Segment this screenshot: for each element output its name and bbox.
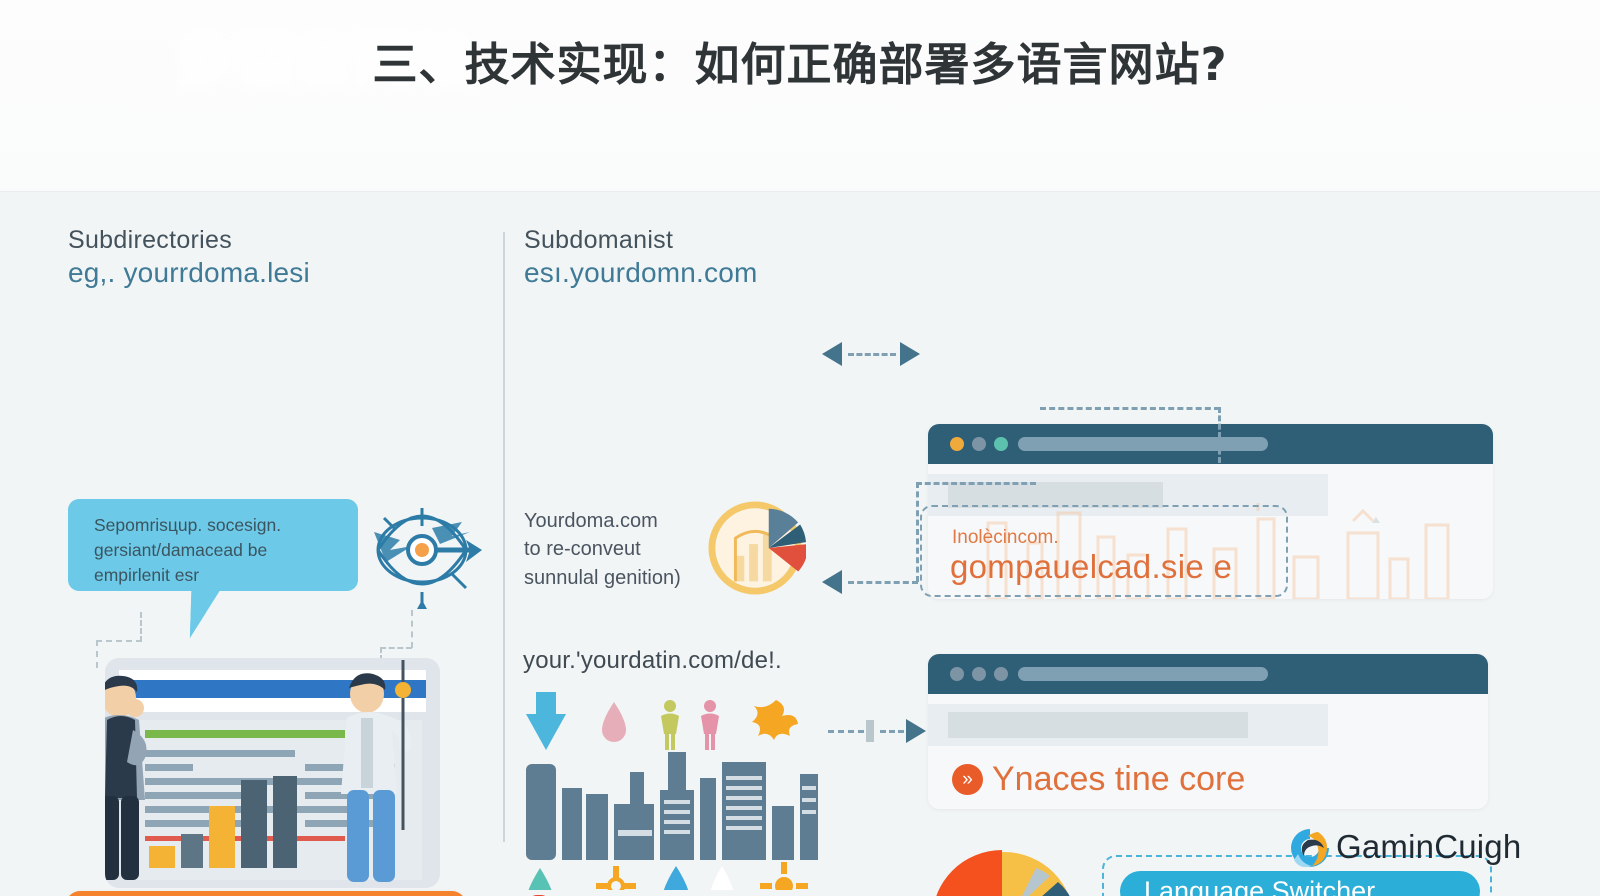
left-kicker: Subdirectories	[68, 226, 310, 255]
browser-titlebar-top	[928, 424, 1493, 464]
brand-logo: GaminCuigh	[1288, 826, 1578, 874]
window-dot-close[interactable]	[950, 437, 964, 451]
left-callout-line-3	[96, 640, 98, 668]
left-column-heading: Subdirectories eɡ,. yourrdoma.lesi	[68, 226, 310, 290]
left-domain: eɡ,. yourrdoma.lesi	[68, 255, 310, 290]
middle-body-line-3: sunnulal ɡenition)	[524, 564, 704, 592]
middle-kicker: Subdomanist	[524, 226, 758, 255]
window-dot-minimize-2[interactable]	[972, 667, 986, 681]
window-top-small-text: Inolѐcincom.	[952, 527, 1059, 549]
left-callout-line-2	[96, 640, 142, 642]
window-dot-maximize-2[interactable]	[994, 667, 1008, 681]
language-switcher-pill[interactable]: Language Switcher	[1120, 871, 1480, 896]
left-speech-text: Sepomrisцup. socesign. gersiant/damacead…	[94, 515, 281, 585]
left-callout-line-1	[140, 612, 142, 642]
gamincuigh-swirl-logo-icon	[1288, 826, 1332, 870]
browser-address-bar-top[interactable]	[1018, 437, 1268, 451]
page-title: 三、技术实现：如何正确部署多语言网站?	[0, 28, 1600, 93]
header: 多语言网站 三、技术实现：如何正确部署多语言网站?	[0, 0, 1600, 192]
left-speech-bubble: Sepomrisцup. socesign. gersiant/damacead…	[68, 499, 358, 591]
left-orange-card: Yourdomiin.com/ed/ Getdonains user to fe…	[66, 891, 466, 896]
left-callout-line-4	[411, 610, 413, 648]
speech-bubble-tail	[184, 588, 221, 638]
person-left-icon	[105, 668, 157, 888]
person-right-icon	[325, 660, 417, 888]
infographic-root: 多语言网站 三、技术实现：如何正确部署多语言网站? Subdirectories…	[0, 0, 1600, 896]
middle-body-line-2: to re-conveut	[524, 535, 704, 563]
chevrons-right-icon: »	[952, 764, 983, 795]
window-middle-text: Ynaces tine core	[992, 760, 1245, 799]
middle-domain: esı.yourdomn.com	[524, 255, 758, 290]
window-top-big-text: gompauelcad.sie e	[950, 548, 1232, 586]
browser-address-bar-middle[interactable]	[1018, 667, 1268, 681]
window-dot-maximize[interactable]	[994, 437, 1008, 451]
globe-target-icon	[370, 488, 482, 613]
brand-logo-text: GaminCuigh	[1336, 828, 1521, 866]
team-dashboard-illustration	[105, 658, 440, 888]
pie-chart-icon	[930, 842, 1085, 896]
column-divider	[503, 232, 505, 842]
middle-body-line-1: Yourdoma.com	[524, 507, 704, 535]
left-callout-line-5	[380, 647, 412, 649]
pie-bar-chart-icon	[708, 499, 806, 597]
middle-body-text: Yourdoma.com to re-conveut sunnulal ɡeni…	[524, 507, 704, 592]
middle-column-heading: Subdomanist esı.yourdomn.com	[524, 226, 758, 290]
window-dot-minimize[interactable]	[972, 437, 986, 451]
browser-titlebar-middle	[928, 654, 1488, 694]
middle-url: your.'yourdatin.com/de!.	[523, 647, 843, 675]
infographic-canvas: Subdirectories eɡ,. yourrdoma.lesi Sepom…	[0, 192, 1600, 896]
city-skyline-icon	[518, 690, 818, 890]
window-dot-close-2[interactable]	[950, 667, 964, 681]
